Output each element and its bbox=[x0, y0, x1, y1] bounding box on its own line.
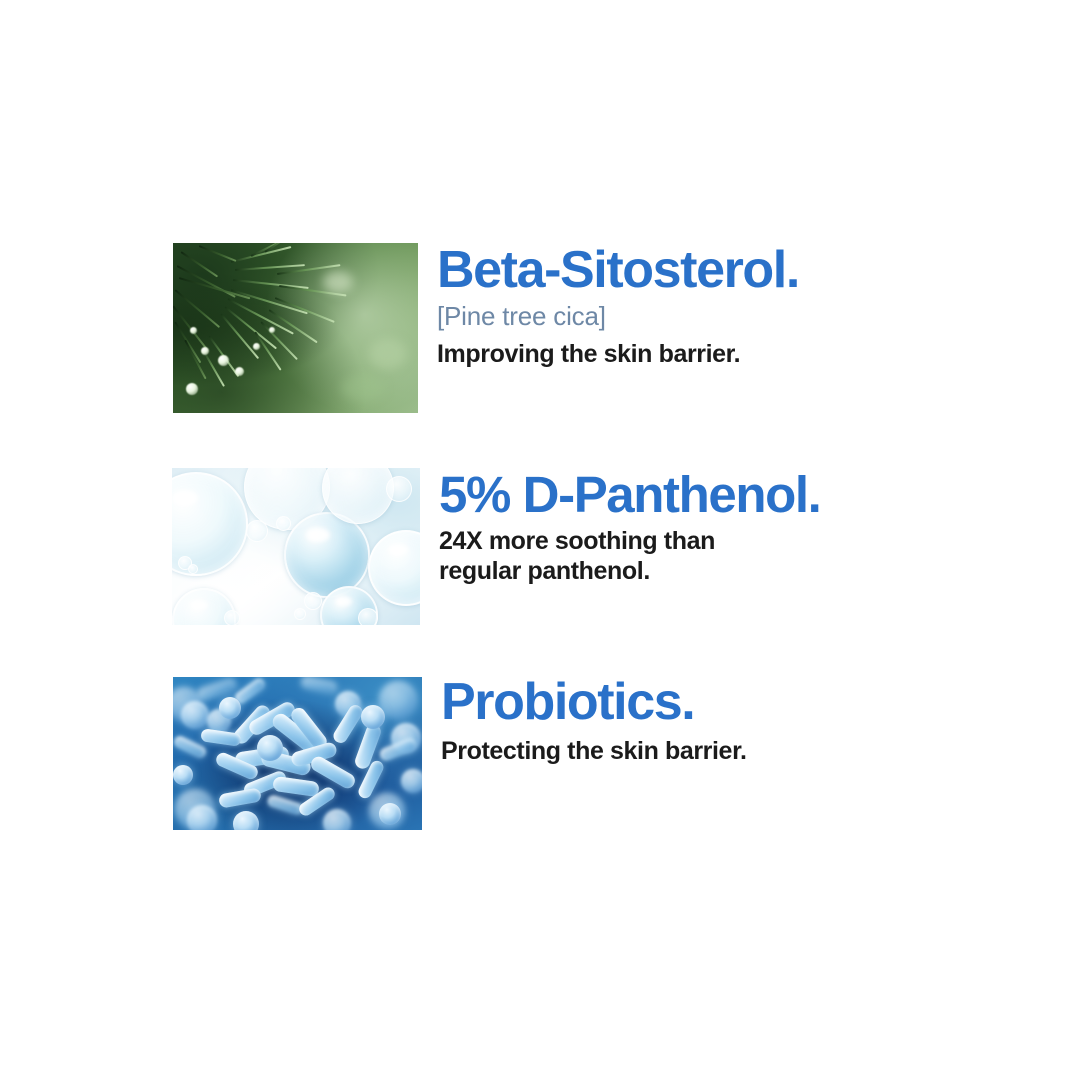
ingredient-headline: 5% D-Panthenol. bbox=[439, 470, 820, 520]
ingredient-headline: Probiotics. bbox=[441, 677, 747, 728]
ingredient-description: Protecting the skin barrier. bbox=[441, 736, 747, 767]
ingredient-copy: Probiotics. Protecting the skin barrier. bbox=[422, 677, 747, 766]
ingredient-copy: 5% D-Panthenol. 24X more soothing than r… bbox=[420, 468, 820, 587]
probiotics-bacteria-photo bbox=[173, 677, 422, 830]
ingredient-copy: Beta-Sitosterol. [Pine tree cica] Improv… bbox=[418, 243, 799, 369]
ingredient-bracket-note: [Pine tree cica] bbox=[437, 301, 799, 332]
ingredient-row: Probiotics. Protecting the skin barrier. bbox=[173, 677, 747, 830]
ingredient-infographic: Beta-Sitosterol. [Pine tree cica] Improv… bbox=[0, 0, 1080, 1080]
pine-tree-branch-photo bbox=[173, 243, 418, 413]
ingredient-description: 24X more soothing than regular panthenol… bbox=[439, 526, 820, 587]
ingredient-row: Beta-Sitosterol. [Pine tree cica] Improv… bbox=[173, 243, 799, 413]
ingredient-row: 5% D-Panthenol. 24X more soothing than r… bbox=[172, 468, 820, 625]
ingredient-headline: Beta-Sitosterol. bbox=[437, 245, 799, 296]
ingredient-description: Improving the skin barrier. bbox=[437, 339, 799, 370]
water-bubbles-photo bbox=[172, 468, 420, 625]
